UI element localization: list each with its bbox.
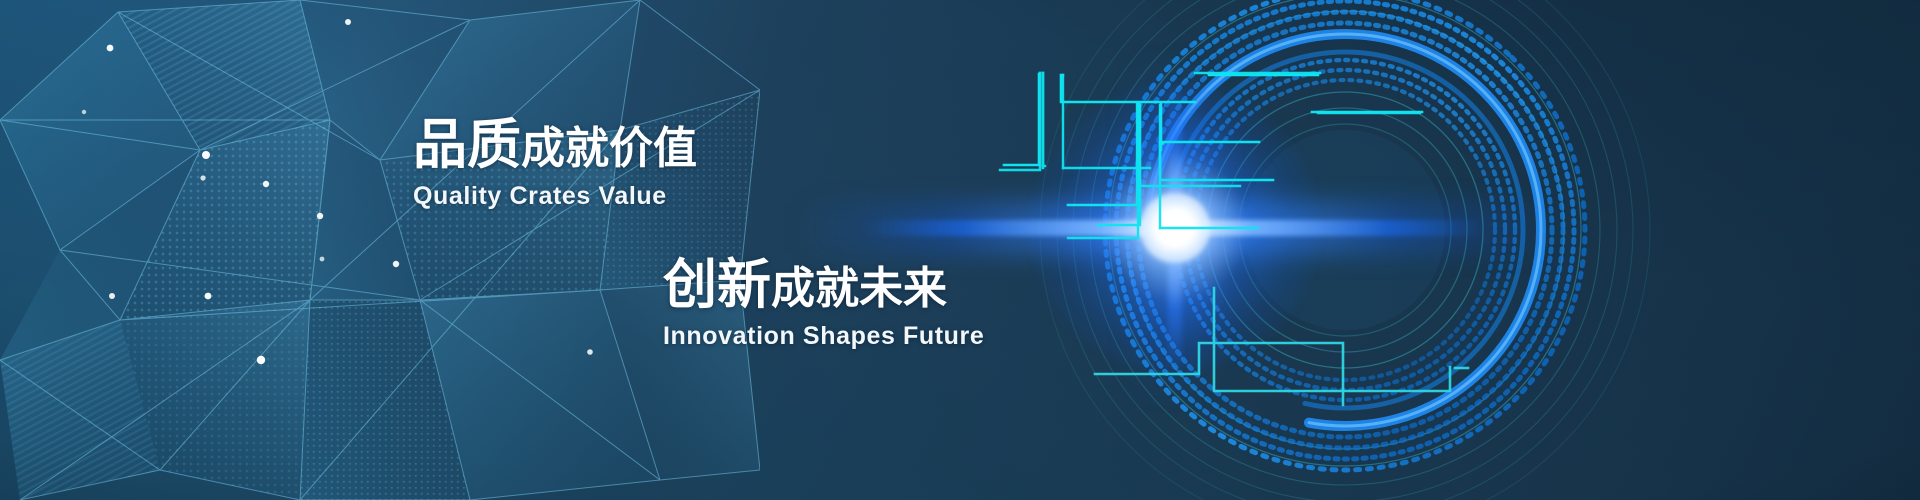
slogan-innovation-en: Innovation Shapes Future [663,322,984,351]
slogan-innovation-cn-rest: 成就未来 [771,264,947,313]
hero-banner: 品质成就价值 Quality Crates Value 创新成就未来 Innov… [0,0,1920,500]
slogan-innovation-cn-lead: 创新 [663,255,771,315]
slogan-innovation-cn: 创新成就未来 [663,258,984,312]
slogan-innovation: 创新成就未来 Innovation Shapes Future [663,258,984,351]
slogan-quality-cn-rest: 成就价值 [521,124,697,173]
slogan-quality-cn-lead: 品质 [413,115,521,175]
slogan-quality-en: Quality Crates Value [413,182,697,211]
vignette-overlay [0,0,1920,500]
slogan-quality: 品质成就价值 Quality Crates Value [413,118,697,211]
slogan-quality-cn: 品质成就价值 [413,118,697,172]
